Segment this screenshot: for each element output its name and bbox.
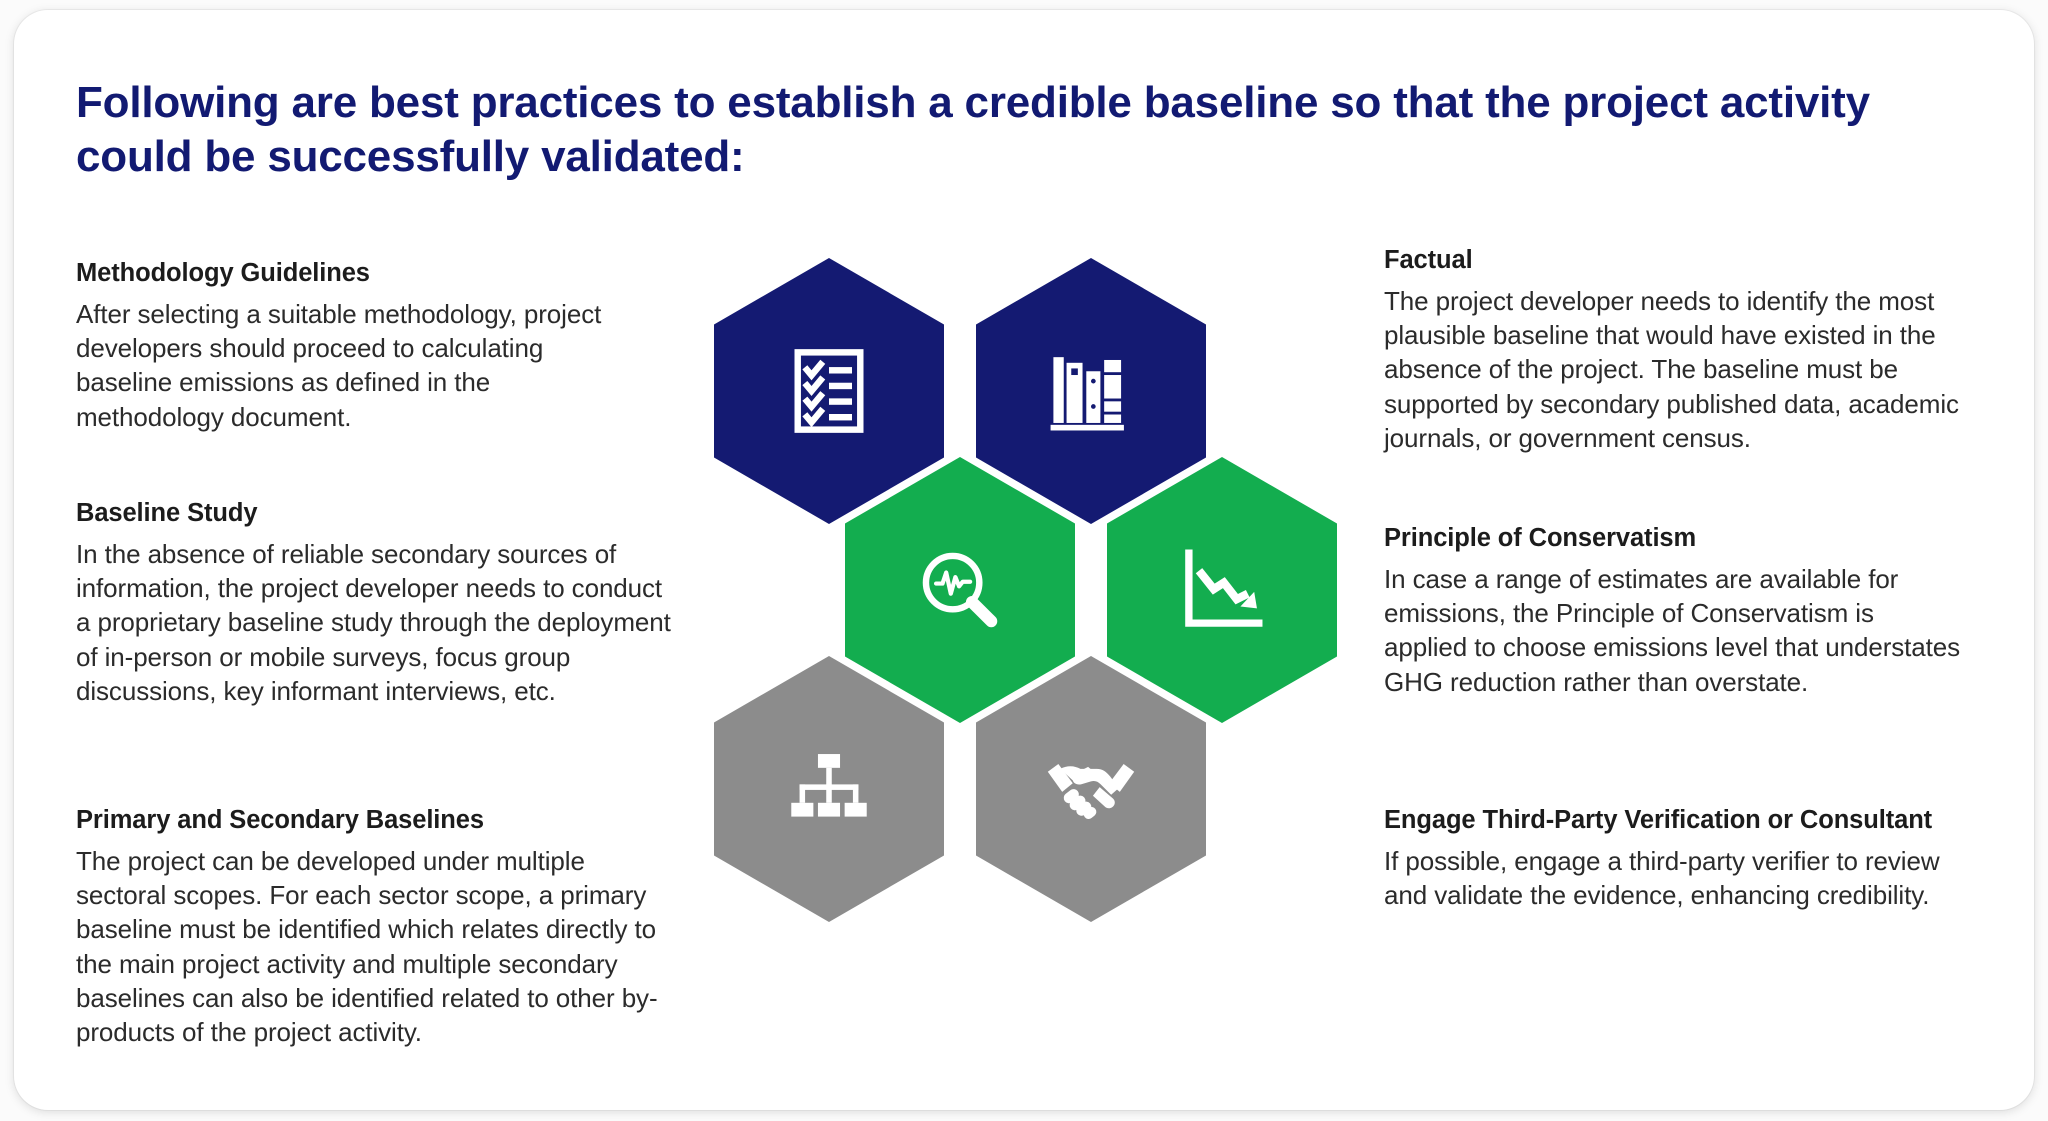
hex-cell-analysis — [845, 457, 1075, 723]
block-heading: Methodology Guidelines — [76, 258, 636, 289]
slide-card: Following are best practices to establis… — [14, 10, 2034, 1110]
page-title: Following are best practices to establis… — [76, 76, 1876, 183]
books-icon — [1043, 343, 1139, 439]
hex-cell-org-chart — [714, 656, 944, 922]
block-heading: Principle of Conservatism — [1384, 523, 1964, 554]
text-block-methodology-guidelines: Methodology Guidelines After selecting a… — [76, 258, 636, 434]
org-chart-icon — [781, 741, 877, 837]
hex-cell-books — [976, 258, 1206, 524]
text-block-primary-and-secondary-baselines: Primary and Secondary Baselines The proj… — [76, 805, 666, 1049]
block-body: After selecting a suitable methodology, … — [76, 297, 636, 434]
block-body: In the absence of reliable secondary sou… — [76, 537, 676, 709]
hex-cell-checklist — [714, 258, 944, 524]
hex-cell-handshake — [976, 656, 1206, 922]
checklist-icon — [781, 343, 877, 439]
block-heading: Factual — [1384, 245, 1964, 276]
text-block-baseline-study: Baseline Study In the absence of reliabl… — [76, 498, 676, 708]
hex-cell-declining-chart — [1107, 457, 1337, 723]
block-body: The project can be developed under multi… — [76, 844, 666, 1050]
handshake-icon — [1043, 741, 1139, 837]
slide-background: Following are best practices to establis… — [0, 0, 2048, 1121]
block-body: If possible, engage a third-party verifi… — [1384, 844, 1984, 913]
text-block-engage-third-party-verification: Engage Third-Party Verification or Consu… — [1384, 805, 1984, 912]
text-block-principle-of-conservatism: Principle of Conservatism In case a rang… — [1384, 523, 1964, 699]
block-heading: Primary and Secondary Baselines — [76, 805, 666, 836]
honeycomb-graphic — [714, 258, 1354, 968]
analysis-magnifier-icon — [912, 542, 1008, 638]
declining-chart-icon — [1174, 542, 1270, 638]
block-body: The project developer needs to identify … — [1384, 284, 1964, 456]
block-body: In case a range of estimates are availab… — [1384, 562, 1964, 699]
text-block-factual: Factual The project developer needs to i… — [1384, 245, 1964, 455]
block-heading: Baseline Study — [76, 498, 676, 529]
block-heading: Engage Third-Party Verification or Consu… — [1384, 805, 1984, 836]
